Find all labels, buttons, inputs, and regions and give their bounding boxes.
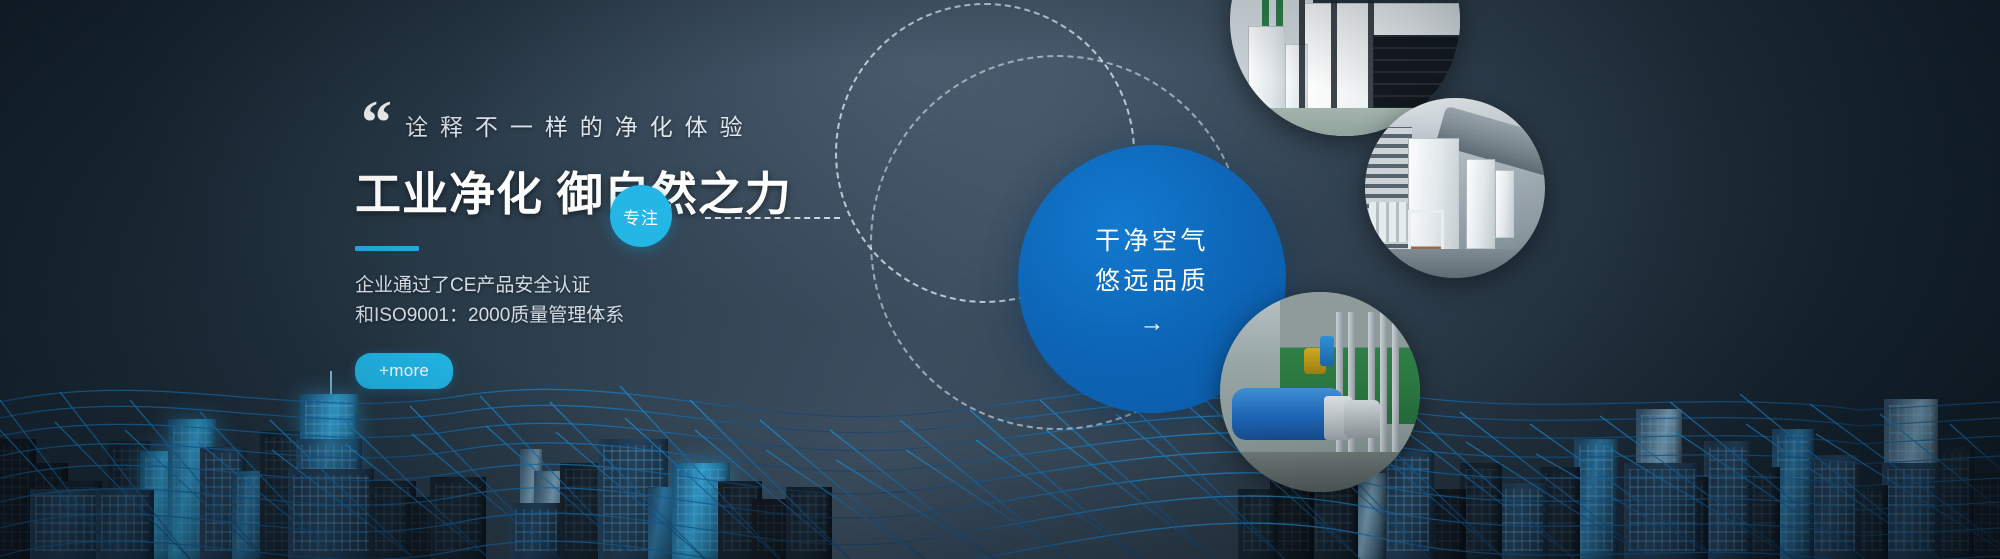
focus-badge[interactable]: 专注 [610, 185, 672, 247]
more-button[interactable]: +more [355, 353, 453, 389]
arrow-right-icon: → [1140, 311, 1165, 336]
accent-divider [355, 246, 419, 251]
clean-air-line-2: 悠远品质 [1095, 262, 1209, 302]
clean-air-line-1: 干净空气 [1095, 222, 1209, 262]
textile-machinery-photo[interactable] [1365, 98, 1545, 278]
graphic-cluster: 专注 干净空气 悠远品质 → [760, 0, 2000, 559]
focus-badge-label: 专注 [623, 204, 659, 229]
quote-mark-icon: “ [361, 92, 390, 154]
hero-banner: “ 诠释不一样的净化体验 工业净化 御自然之力 企业通过了CE产品安全认证 和I… [0, 0, 2000, 559]
pressure-vessel-photo[interactable] [1220, 292, 1420, 492]
dashed-connector-line [705, 217, 840, 219]
